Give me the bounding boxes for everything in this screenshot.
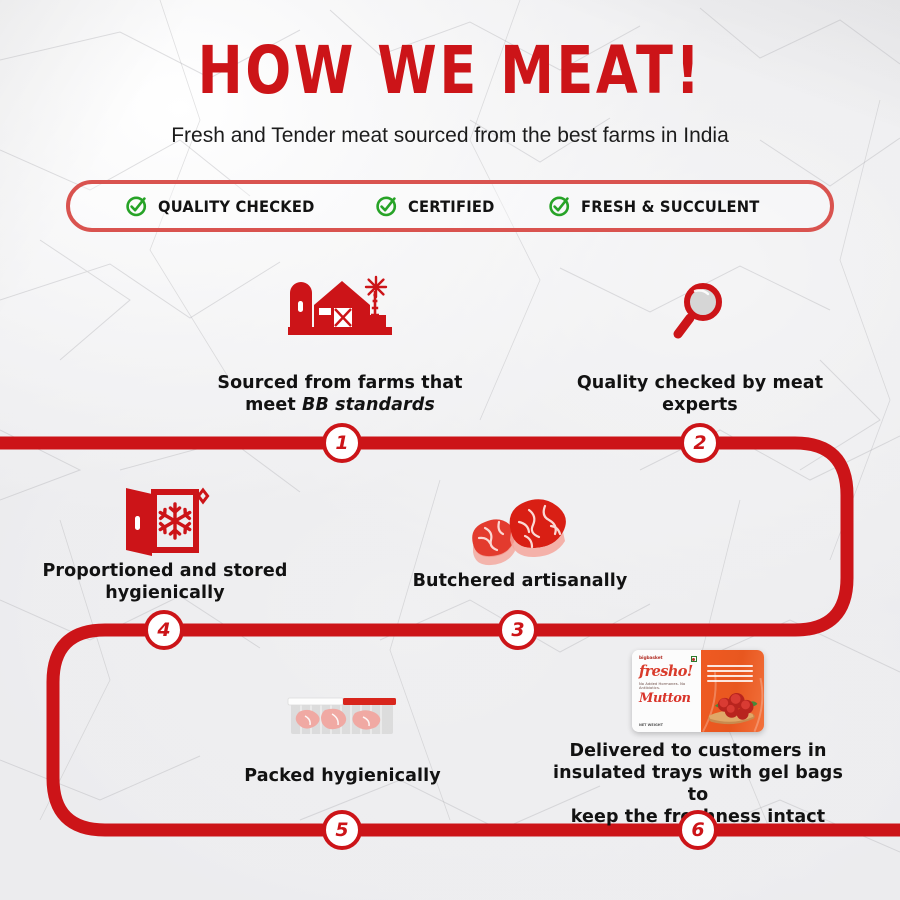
package-image-panel (701, 650, 764, 732)
package-tagline: No Added Hormones. No Antibiotics. (639, 682, 696, 690)
badge-label: FRESH & SUCCULENT (581, 197, 759, 216)
step-6-caption-line1: Delivered to customers in (548, 740, 848, 762)
packed-tray-icon (285, 690, 399, 738)
page-title: HOW WE MEAT! (81, 38, 819, 104)
check-circle-icon (125, 194, 149, 218)
package-product-name: Mutton (639, 691, 696, 706)
badge-label: CERTIFIED (408, 197, 495, 216)
non-veg-mark-icon (691, 656, 697, 662)
step-1-caption-line2: meet BB standards (190, 394, 490, 416)
step-marker-4[interactable]: 4 (144, 610, 184, 650)
check-circle-icon (548, 194, 572, 218)
step-1-caption-line1: Sourced from farms that (190, 372, 490, 394)
trust-badge-bar: QUALITY CHECKED CERTIFIED FRESH & SUCCUL… (66, 180, 834, 232)
step-4-caption-line1: Proportioned and stored (30, 560, 300, 582)
step-2-caption-line1: Quality checked by meat (560, 372, 840, 394)
step-5-caption: Packed hygienically (225, 765, 460, 787)
step-marker-5[interactable]: 5 (322, 810, 362, 850)
step-5-caption-line1: Packed hygienically (225, 765, 460, 787)
freezer-snowflake-icon (122, 484, 210, 560)
fresho-wordmark: fresho! (639, 664, 696, 679)
badge-fresh-succulent: FRESH & SUCCULENT (548, 194, 775, 218)
step-4-caption-line2: hygienically (30, 582, 300, 604)
badge-label: QUALITY CHECKED (158, 197, 315, 216)
package-front-panel: bigbasket fresho! No Added Hormones. No … (632, 650, 701, 732)
package-meat-board-icon (701, 650, 764, 732)
step-2-caption: Quality checked by meat experts (560, 372, 840, 416)
magnifying-glass-icon (668, 278, 732, 342)
fresho-package-icon: bigbasket fresho! No Added Hormones. No … (632, 650, 764, 732)
step-1-caption-plain: meet (245, 395, 302, 415)
step-1-caption-emphasis: BB standards (302, 395, 435, 415)
badge-quality-checked: QUALITY CHECKED (125, 194, 328, 218)
step-2-caption-line2: experts (560, 394, 840, 416)
step-3-caption-line1: Butchered artisanally (400, 570, 640, 592)
check-circle-icon (375, 194, 399, 218)
step-marker-1[interactable]: 1 (322, 423, 362, 463)
meat-cuts-icon (455, 492, 583, 566)
infographic-page: HOW WE MEAT! Fresh and Tender meat sourc… (0, 0, 900, 900)
step-4-caption: Proportioned and stored hygienically (30, 560, 300, 604)
farm-barn-icon (288, 275, 400, 337)
step-1-caption: Sourced from farms that meet BB standard… (190, 372, 490, 416)
step-marker-3[interactable]: 3 (498, 610, 538, 650)
package-net-weight: NET WEIGHT (639, 723, 663, 727)
badge-certified: CERTIFIED (375, 194, 502, 218)
step-marker-2[interactable]: 2 (680, 423, 720, 463)
step-6-caption-line2: insulated trays with gel bags to (548, 762, 848, 806)
bigbasket-logo: bigbasket (639, 656, 696, 661)
step-marker-6[interactable]: 6 (678, 810, 718, 850)
page-subtitle: Fresh and Tender meat sourced from the b… (0, 124, 900, 148)
step-3-caption: Butchered artisanally (400, 570, 640, 592)
